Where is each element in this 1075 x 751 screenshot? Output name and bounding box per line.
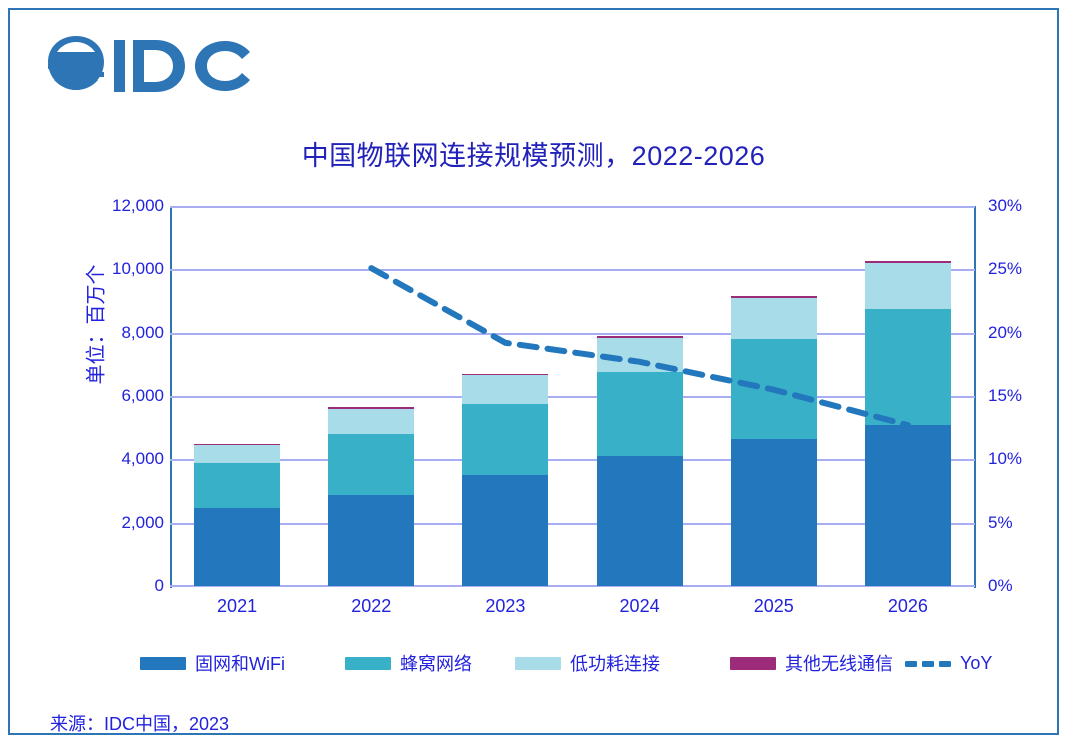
x-tick-2023: 2023 bbox=[445, 596, 565, 617]
x-tick-2022: 2022 bbox=[311, 596, 431, 617]
legend-label: 蜂窝网络 bbox=[400, 650, 472, 676]
y-tick-left: 4,000 bbox=[44, 449, 164, 469]
y-axis-right-ticks: 30% 25% 20% 15% 10% 5% 0% bbox=[988, 206, 1058, 586]
y-tick-right: 5% bbox=[988, 513, 1058, 533]
y-tick-left: 0 bbox=[44, 576, 164, 596]
legend-item-3[interactable]: 低功耗连接 bbox=[515, 650, 660, 676]
x-axis-labels: 202120222023202420252026 bbox=[170, 596, 975, 624]
legend-item-4[interactable]: 其他无线通信 bbox=[730, 650, 893, 676]
y-tick-right: 15% bbox=[988, 386, 1058, 406]
chart-canvas: 单位：百万个 12,000 10,000 8,000 6,000 4,000 2… bbox=[10, 10, 1057, 733]
y-axis-left-ticks: 12,000 10,000 8,000 6,000 4,000 2,000 0 bbox=[36, 206, 164, 586]
legend-swatch bbox=[515, 657, 561, 670]
legend-label: 固网和WiFi bbox=[195, 650, 285, 676]
legend-swatch bbox=[140, 657, 186, 670]
x-tick-2021: 2021 bbox=[177, 596, 297, 617]
yoy-line-series bbox=[170, 206, 975, 586]
legend-item-1[interactable]: 固网和WiFi bbox=[140, 650, 285, 676]
y-tick-right: 25% bbox=[988, 259, 1058, 279]
y-tick-left: 12,000 bbox=[44, 196, 164, 216]
legend-label: 低功耗连接 bbox=[570, 650, 660, 676]
y-tick-right: 10% bbox=[988, 449, 1058, 469]
chart-legend: 固网和WiFi蜂窝网络低功耗连接其他无线通信YoY bbox=[140, 650, 940, 680]
x-tick-2024: 2024 bbox=[580, 596, 700, 617]
y-tick-left: 8,000 bbox=[44, 323, 164, 343]
y-tick-left: 10,000 bbox=[44, 259, 164, 279]
y-tick-right: 30% bbox=[988, 196, 1058, 216]
legend-dashed-line-icon bbox=[905, 657, 951, 670]
y-tick-right: 0% bbox=[988, 576, 1058, 596]
source-note: 来源：IDC中国，2023 bbox=[50, 710, 229, 736]
legend-label: 其他无线通信 bbox=[785, 650, 893, 676]
y-tick-right: 20% bbox=[988, 323, 1058, 343]
x-tick-2026: 2026 bbox=[848, 596, 968, 617]
y-tick-left: 6,000 bbox=[44, 386, 164, 406]
legend-swatch bbox=[345, 657, 391, 670]
legend-label: YoY bbox=[960, 653, 992, 674]
x-tick-2025: 2025 bbox=[714, 596, 834, 617]
legend-item-5[interactable]: YoY bbox=[905, 650, 992, 676]
y-tick-left: 2,000 bbox=[44, 513, 164, 533]
legend-item-2[interactable]: 蜂窝网络 bbox=[345, 650, 472, 676]
chart-frame: 中国物联网连接规模预测，2022-2026 单位：百万个 12,000 10,0… bbox=[8, 8, 1059, 735]
legend-swatch bbox=[730, 657, 776, 670]
